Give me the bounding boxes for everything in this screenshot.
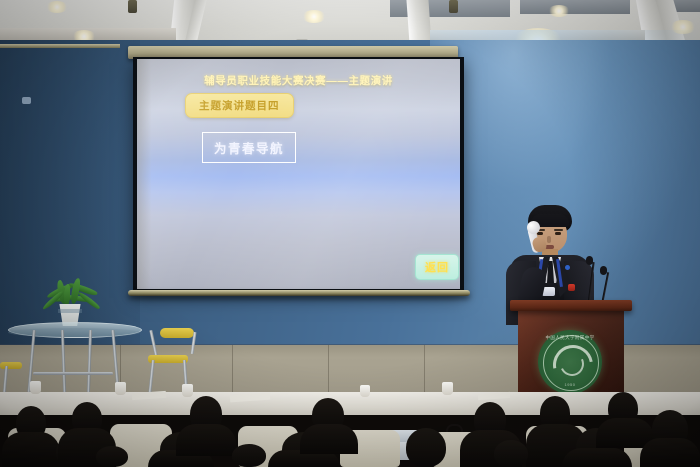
screen-sheen (137, 59, 460, 289)
plant-pot-band (58, 309, 82, 313)
screen-weight-bar (128, 290, 470, 296)
audience-shoulders (640, 438, 700, 467)
audience-shoulders (562, 448, 632, 467)
podium-top-surface (510, 300, 632, 311)
speaker-nose (547, 236, 551, 243)
audience-shoulders (300, 424, 358, 454)
audience-head (232, 444, 266, 467)
glass-table-rim (8, 328, 140, 337)
wall-speaker-box (22, 97, 31, 104)
speaker-collar-pin (565, 265, 570, 270)
downlight-1 (46, 1, 68, 13)
audience-head (406, 428, 446, 467)
glass-table-brace (33, 372, 113, 375)
speaker-eye-right (555, 232, 561, 235)
speaker-red-lapel-pin (568, 284, 575, 291)
chair-back-mid[interactable] (160, 328, 194, 338)
podium-mic-head-right (600, 266, 607, 275)
screen-housing-cap-right (449, 0, 458, 13)
audience-group (0, 388, 700, 467)
screen-housing-cap-left (128, 0, 137, 13)
audience-shoulders (2, 432, 60, 467)
ceiling-panel-2 (520, 0, 630, 14)
wall-pipe (0, 44, 120, 48)
emblem-top-text: 中国人民大学附属中学 (538, 335, 602, 341)
downlight-3 (302, 10, 326, 23)
conference-hall-scene: 辅导员职业技能大赛决赛——主题演讲 主题演讲题目四 为青春导航 返回 (0, 0, 700, 467)
audience-shoulders (176, 424, 236, 456)
chair-seat-left[interactable] (0, 362, 22, 369)
speaker-brow-right (554, 229, 563, 231)
podium-mic-head-left (586, 256, 593, 265)
upper-wall-left-shadow (0, 40, 140, 350)
ceiling-beam-mid (406, 0, 431, 44)
audience-head (494, 440, 528, 467)
emblem-bottom-text: 1950 (538, 382, 602, 387)
audience-head (96, 446, 128, 467)
downlight-4 (548, 5, 570, 17)
